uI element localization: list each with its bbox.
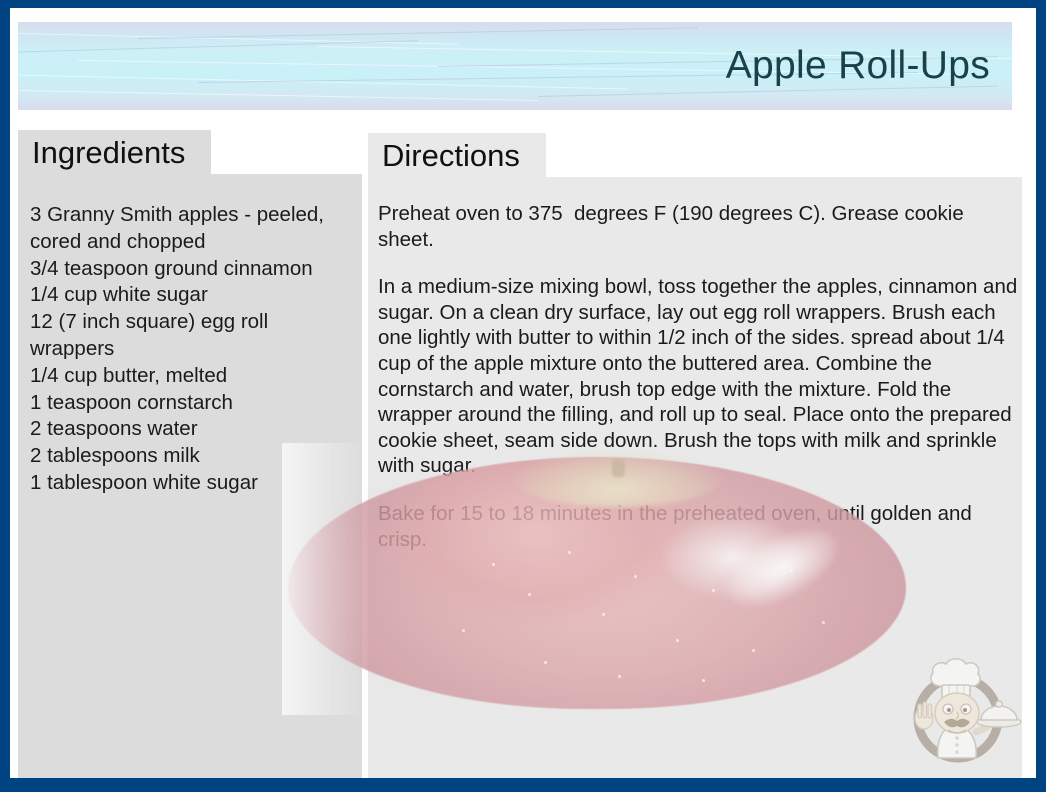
ingredients-list: 3 Granny Smith apples - peeled, cored an…: [30, 202, 352, 497]
chef-mascot-logo: [900, 646, 1022, 764]
list-item: 2 tablespoons milk: [30, 443, 352, 470]
directions-paragraph: Bake for 15 to 18 minutes in the preheat…: [378, 501, 1018, 552]
list-item: 1/4 cup white sugar: [30, 282, 352, 309]
list-item: 1/4 cup butter, melted: [30, 363, 352, 390]
list-item: 1 teaspoon cornstarch: [30, 390, 352, 417]
directions-paragraph: Preheat oven to 375 degrees F (190 degre…: [378, 201, 1018, 252]
slide-frame: Apple Roll-Ups Ingredients 3 Granny Smit…: [0, 0, 1046, 792]
page-title: Apple Roll-Ups: [726, 44, 990, 88]
directions-paragraph: In a medium-size mixing bowl, toss toget…: [378, 274, 1018, 479]
directions-text: Preheat oven to 375 degrees F (190 degre…: [378, 201, 1018, 552]
list-item: 3/4 teaspoon ground cinnamon: [30, 256, 352, 283]
list-item: 3 Granny Smith apples - peeled, cored an…: [30, 202, 352, 256]
directions-heading: Directions: [368, 133, 546, 179]
ingredients-panel: Ingredients 3 Granny Smith apples - peel…: [18, 130, 362, 778]
list-item: 12 (7 inch square) egg roll wrappers: [30, 309, 352, 363]
ingredients-heading-label: Ingredients: [32, 135, 185, 170]
ingredients-heading: Ingredients: [18, 130, 211, 176]
slide-content: Apple Roll-Ups Ingredients 3 Granny Smit…: [10, 8, 1036, 778]
list-item: 2 teaspoons water: [30, 416, 352, 443]
list-item: 1 tablespoon white sugar: [30, 470, 352, 497]
header-banner: Apple Roll-Ups: [18, 22, 1012, 110]
directions-heading-label: Directions: [382, 138, 520, 173]
